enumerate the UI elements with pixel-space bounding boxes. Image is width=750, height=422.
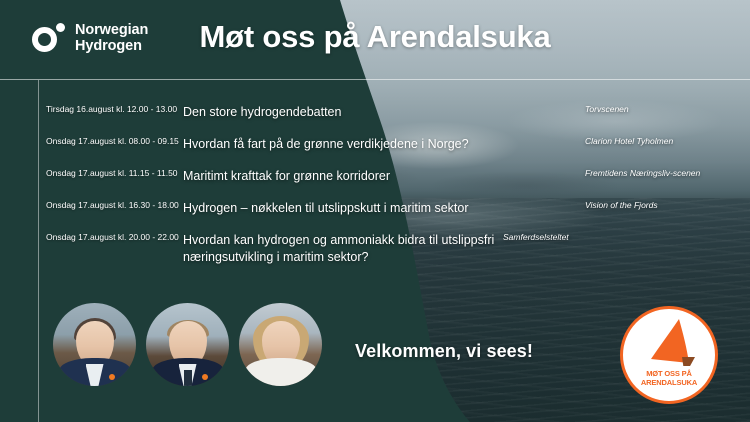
badge-label: MØT OSS PÅ ARENDALSUKA bbox=[641, 369, 697, 388]
event-title: Maritimt krafttak for grønne korridorer bbox=[175, 168, 585, 185]
avatar-lapel-pin-icon bbox=[202, 374, 208, 380]
list-item: Onsdag 17.august kl. 08.00 - 09.15 Hvord… bbox=[0, 136, 750, 168]
list-item: Tirsdag 16.august kl. 12.00 - 13.00 Den … bbox=[0, 104, 750, 136]
event-datetime: Onsdag 17.august kl. 16.30 - 18.00 bbox=[0, 200, 175, 211]
event-venue: Fremtidens Næringsliv-scenen bbox=[585, 168, 750, 179]
slide-header: Norwegian Hydrogen Møt oss på Arendalsuk… bbox=[0, 0, 750, 80]
event-venue: Clarion Hotel Tyholmen bbox=[585, 136, 750, 147]
event-datetime: Onsdag 17.august kl. 08.00 - 09.15 bbox=[0, 136, 175, 147]
event-datetime: Onsdag 17.august kl. 11.15 - 11.50 bbox=[0, 168, 175, 179]
event-schedule-list: Tirsdag 16.august kl. 12.00 - 13.00 Den … bbox=[0, 104, 750, 272]
avatar bbox=[239, 303, 322, 386]
list-item: Onsdag 17.august kl. 11.15 - 11.50 Marit… bbox=[0, 168, 750, 200]
avatar-lapel-pin-icon bbox=[109, 374, 115, 380]
page-title: Møt oss på Arendalsuka bbox=[0, 19, 750, 55]
event-datetime: Onsdag 17.august kl. 20.00 - 22.00 bbox=[0, 232, 175, 243]
header-divider bbox=[0, 79, 750, 80]
event-title: Hydrogen – nøkkelen til utslippskutt i m… bbox=[175, 200, 585, 217]
list-item: Onsdag 17.august kl. 20.00 - 22.00 Hvord… bbox=[0, 232, 750, 272]
avatar bbox=[53, 303, 136, 386]
event-title: Hvordan få fart på de grønne verdikjeden… bbox=[175, 136, 585, 153]
presentation-slide: Norwegian Hydrogen Møt oss på Arendalsuk… bbox=[0, 0, 750, 422]
orange-sail-icon bbox=[643, 319, 695, 367]
sail-shape bbox=[649, 319, 689, 363]
event-venue: Vision of the Fjords bbox=[585, 200, 750, 211]
badge-label-line2: ARENDALSUKA bbox=[641, 378, 697, 387]
event-venue: Torvscenen bbox=[585, 104, 750, 115]
welcome-message: Velkommen, vi sees! bbox=[355, 341, 533, 362]
avatar-tie bbox=[184, 370, 192, 386]
event-datetime: Tirsdag 16.august kl. 12.00 - 13.00 bbox=[0, 104, 175, 115]
event-title: Den store hydrogendebatten bbox=[175, 104, 585, 121]
arendalsuka-badge: MØT OSS PÅ ARENDALSUKA bbox=[620, 306, 718, 404]
event-title: Hvordan kan hydrogen og ammoniakk bidra … bbox=[175, 232, 503, 265]
speaker-portraits bbox=[53, 303, 322, 386]
list-item: Onsdag 17.august kl. 16.30 - 18.00 Hydro… bbox=[0, 200, 750, 232]
badge-label-line1: MØT OSS PÅ bbox=[641, 369, 697, 378]
avatar bbox=[146, 303, 229, 386]
event-venue: Samferdselsteltet bbox=[503, 232, 668, 243]
avatar-body bbox=[245, 358, 317, 386]
hull-shape bbox=[682, 357, 695, 366]
